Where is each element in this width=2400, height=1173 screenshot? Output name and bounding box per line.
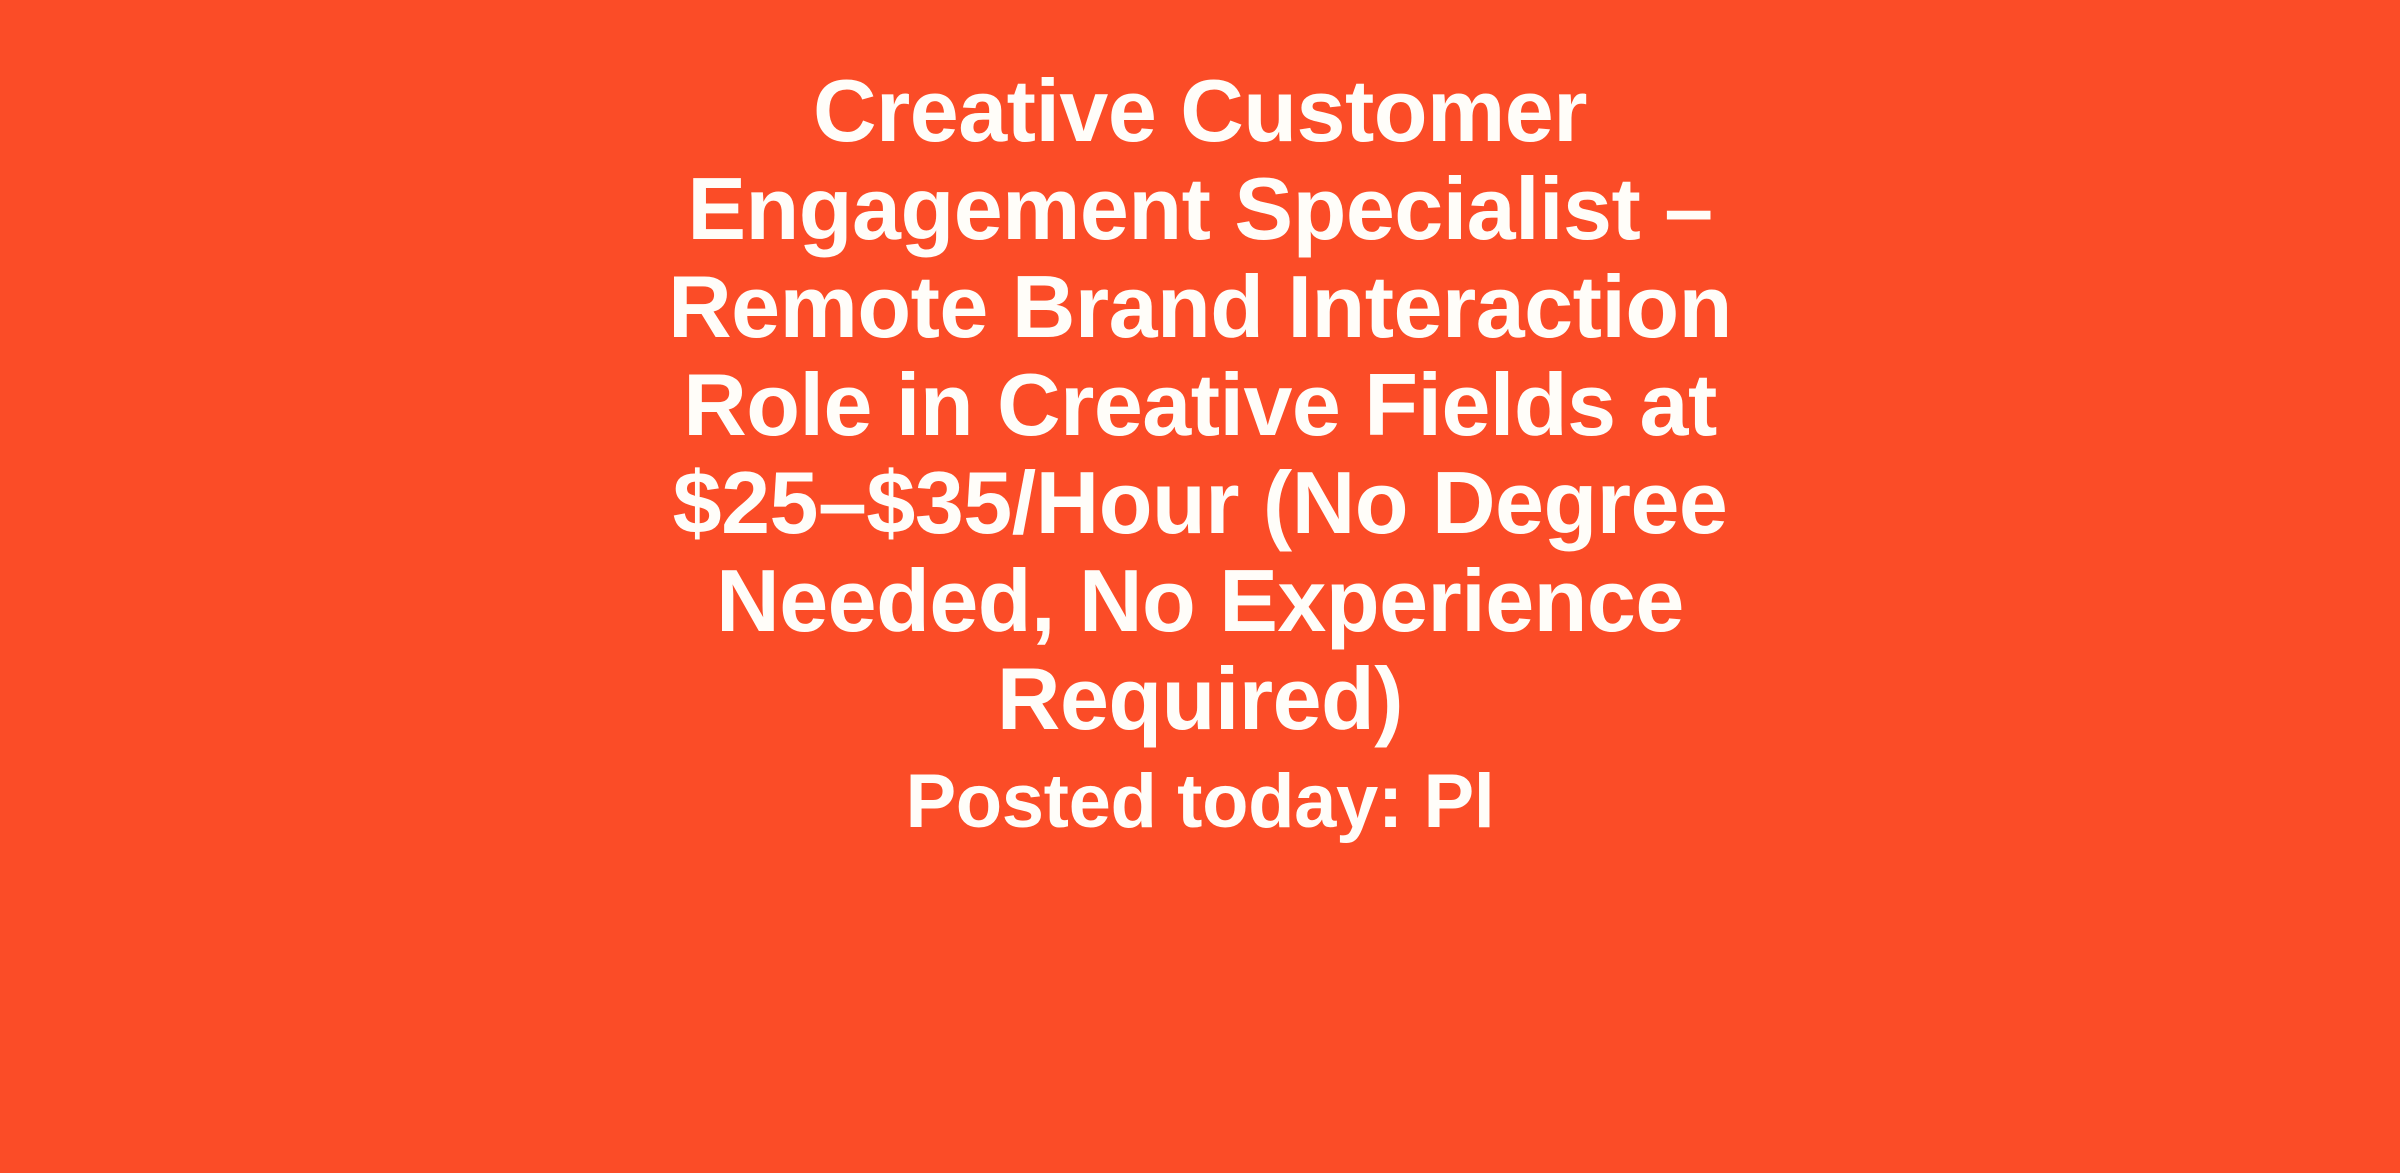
headline-line-2: Engagement Specialist –	[0, 160, 2400, 258]
subtitle-line: Posted today: Pl	[0, 754, 2400, 850]
headline-block: Creative Customer Engagement Specialist …	[0, 62, 2400, 850]
job-posting-banner: Creative Customer Engagement Specialist …	[0, 0, 2400, 1173]
headline-line-4: Role in Creative Fields at	[0, 356, 2400, 454]
headline-line-3: Remote Brand Interaction	[0, 258, 2400, 356]
headline-line-7: Required)	[0, 650, 2400, 748]
headline-line-1: Creative Customer	[0, 62, 2400, 160]
headline-line-5: $25–$35/Hour (No Degree	[0, 454, 2400, 552]
headline-line-6: Needed, No Experience	[0, 552, 2400, 650]
